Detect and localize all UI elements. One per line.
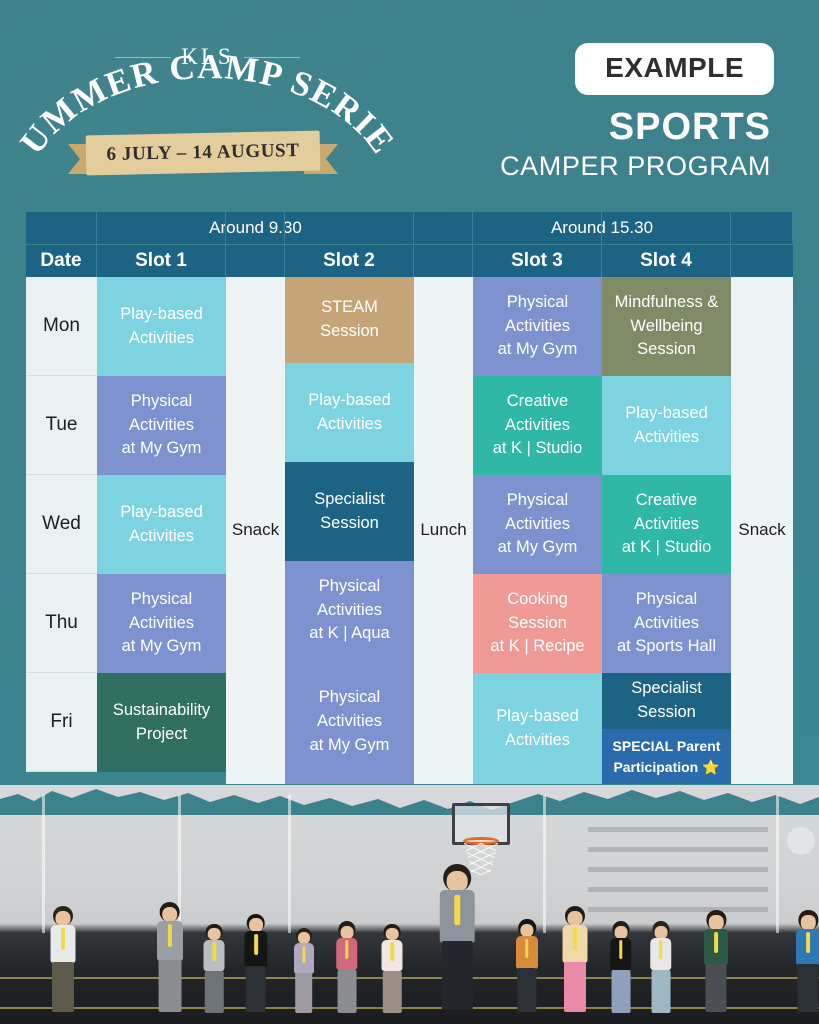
- wall-bars-icon: [588, 867, 768, 872]
- table-body: MonTueWedThuFriSnackLunchSnackPlay-based…: [26, 277, 793, 784]
- cell-line: Cooking: [507, 588, 568, 612]
- cell-line: at K | Recipe: [490, 635, 584, 659]
- cell-line: at My Gym: [498, 536, 578, 560]
- activity-cell-slot3-thu: CookingSessionat K | Recipe: [473, 574, 602, 673]
- table-column-header-row: DateSlot 1Slot 2Slot 3Slot 4: [26, 245, 793, 277]
- ribbon-body: 6 JULY – 14 AUGUST: [86, 131, 321, 176]
- floor-marking: [0, 1007, 819, 1009]
- child-figure: [606, 921, 635, 1016]
- cell-line: Activities: [129, 414, 194, 438]
- example-badge-label: EXAMPLE: [605, 52, 744, 83]
- cell-line: at My Gym: [310, 734, 390, 758]
- cell-line: Fri: [50, 708, 72, 736]
- cell-line: Physical: [131, 390, 192, 414]
- column-header-snack: [226, 245, 285, 277]
- cell-line: at K | Studio: [622, 536, 712, 560]
- cell-line: Activities: [317, 710, 382, 734]
- cell-line: at Sports Hall: [617, 635, 716, 659]
- child-figure: [200, 924, 229, 1016]
- wall-bars-icon: [588, 827, 768, 832]
- child-figure: [46, 906, 80, 1016]
- day-cell-mon: Mon: [26, 277, 97, 376]
- cell-line: at K | Studio: [493, 437, 583, 461]
- figure-lanyard: [213, 942, 216, 960]
- break-cell-snack-1: Snack: [226, 277, 285, 784]
- figure-lanyard: [806, 932, 810, 953]
- cell-line: Thu: [45, 609, 78, 637]
- figure-face: [298, 932, 310, 944]
- coach-figure: [434, 864, 481, 1016]
- column-header-slot-1: Slot 1: [97, 245, 226, 277]
- figure-legs: [798, 964, 819, 1012]
- camp-dates: 6 JULY – 14 AUGUST: [106, 140, 300, 166]
- activity-cell-slot2-thu: PhysicalActivitiesat K | Aqua: [285, 561, 414, 660]
- column-header-snack: [731, 245, 793, 277]
- header-divider: [97, 212, 226, 244]
- child-figure: [558, 906, 592, 1016]
- figure-legs: [611, 970, 630, 1013]
- cell-line: Session: [637, 701, 696, 725]
- activity-cell-slot2-fri: PhysicalActivitiesat My Gym: [285, 660, 414, 784]
- figure-lanyard: [345, 940, 348, 959]
- figure-face: [520, 924, 533, 937]
- cell-line: Sustainability: [113, 699, 210, 723]
- cell-line: Activities: [505, 729, 570, 753]
- wall-seam: [543, 795, 546, 935]
- cell-line: at K | Aqua: [309, 622, 389, 646]
- child-figure: [792, 910, 819, 1016]
- activity-cell-slot1-fri: SustainabilityProject: [97, 673, 226, 772]
- cell-line: Wellbeing: [630, 315, 702, 339]
- figure-legs: [383, 971, 401, 1013]
- figure-face: [614, 926, 627, 939]
- activity-cell-slot3-tue: CreativeActivitiesat K | Studio: [473, 376, 602, 475]
- header-divider: [26, 212, 97, 244]
- table-time-header-row: Around 9.30Around 15.30: [26, 212, 793, 244]
- activity-cell-slot3-mon: PhysicalActivitiesat My Gym: [473, 277, 602, 376]
- column-header-date: Date: [26, 245, 97, 277]
- cell-line: STEAM: [321, 296, 378, 320]
- cell-line: Project: [136, 723, 187, 747]
- break-cell-lunch: Lunch: [414, 277, 473, 784]
- cell-line: Tue: [45, 411, 77, 439]
- program-subtitle: CAMPER PROGRAM: [311, 151, 771, 182]
- figure-lanyard: [302, 946, 305, 964]
- cell-line: Mindfulness &: [615, 291, 719, 315]
- cell-line: Session: [320, 512, 379, 536]
- cell-line: Play-based: [496, 705, 579, 729]
- program-title-block: SPORTS CAMPER PROGRAM: [311, 108, 771, 182]
- cell-line: Physical: [131, 588, 192, 612]
- dates-ribbon: 6 JULY – 14 AUGUST: [68, 133, 338, 175]
- activity-cell-slot4-thu: PhysicalActivitiesat Sports Hall: [602, 574, 731, 673]
- figure-face: [56, 911, 71, 926]
- wall-seam: [42, 795, 45, 935]
- child-figure: [646, 921, 675, 1016]
- schedule-table: Around 9.30Around 15.30 DateSlot 1Slot 2…: [26, 212, 793, 784]
- torn-paper-edge-icon: [0, 785, 819, 815]
- figure-lanyard: [168, 924, 172, 947]
- corner-watermark: [787, 827, 815, 855]
- figure-legs: [442, 941, 472, 1010]
- figure-face: [568, 911, 583, 926]
- wall-bars-icon: [588, 907, 768, 912]
- figure-face: [208, 928, 221, 941]
- figure-legs: [158, 960, 181, 1012]
- cell-line: Activities: [317, 413, 382, 437]
- banner-line: Participation ⭐: [613, 757, 719, 778]
- figure-legs: [564, 962, 586, 1012]
- activity-cell-slot4-mon: Mindfulness &WellbeingSession: [602, 277, 731, 376]
- cell-line: Activities: [129, 525, 194, 549]
- cell-line: at My Gym: [122, 635, 202, 659]
- figure-legs: [706, 964, 727, 1012]
- figure-legs: [246, 966, 266, 1013]
- wall-bars-icon: [588, 847, 768, 852]
- cell-line: Snack: [232, 518, 279, 543]
- activity-cell-slot1-wed: Play-basedActivities: [97, 475, 226, 574]
- figure-face: [162, 907, 178, 923]
- figure-face: [447, 871, 468, 892]
- wall-bars-icon: [588, 887, 768, 892]
- figure-legs: [337, 970, 356, 1013]
- cell-line: Physical: [507, 291, 568, 315]
- figure-face: [340, 926, 353, 939]
- activity-cell-slot3-fri: Play-basedActivities: [473, 673, 602, 784]
- activity-cell-slot1-thu: PhysicalActivitiesat My Gym: [97, 574, 226, 673]
- cell-line: at My Gym: [122, 437, 202, 461]
- header-divider: [602, 212, 731, 244]
- figure-lanyard: [391, 942, 394, 960]
- activity-cell-slot4-fri: SpecialistSession: [602, 673, 731, 729]
- cell-line: Lunch: [420, 518, 466, 543]
- figure-lanyard: [659, 940, 662, 959]
- child-figure: [700, 910, 733, 1016]
- column-header-slot-4: Slot 4: [602, 245, 731, 277]
- gym-floor: [0, 933, 819, 1024]
- cell-line: Snack: [738, 518, 785, 543]
- cell-line: Activities: [129, 327, 194, 351]
- floor-marking: [0, 977, 819, 979]
- header-divider: [414, 212, 473, 244]
- figure-face: [386, 928, 399, 941]
- program-name: SPORTS: [311, 108, 771, 147]
- cell-line: Activities: [634, 612, 699, 636]
- activity-cell-slot1-mon: Play-basedActivities: [97, 277, 226, 376]
- day-cell-fri: Fri: [26, 673, 97, 772]
- activity-cell-slot2-wed: SpecialistSession: [285, 462, 414, 561]
- figure-legs: [52, 962, 74, 1012]
- cell-line: Session: [320, 320, 379, 344]
- page-header: KLS SUMMER CAMP SERIES 6 JULY – 14 AUGUS…: [0, 0, 819, 205]
- cell-line: Physical: [319, 575, 380, 599]
- banner-line: SPECIAL Parent: [613, 736, 721, 757]
- cell-line: Physical: [319, 686, 380, 710]
- activity-cell-slot4-tue: Play-basedActivities: [602, 376, 731, 475]
- figure-legs: [295, 973, 313, 1013]
- header-divider: [731, 212, 793, 244]
- figure-lanyard: [61, 928, 65, 950]
- figure-face: [654, 926, 667, 939]
- day-cell-tue: Tue: [26, 376, 97, 475]
- column-header-slot-3: Slot 3: [473, 245, 602, 277]
- cell-line: Creative: [507, 390, 568, 414]
- cell-line: Play-based: [120, 303, 203, 327]
- figure-legs: [205, 971, 223, 1013]
- figure-lanyard: [714, 932, 718, 953]
- example-badge: EXAMPLE: [575, 43, 774, 95]
- cell-line: Play-based: [625, 402, 708, 426]
- cell-line: at My Gym: [498, 338, 578, 362]
- child-figure: [240, 914, 272, 1016]
- cell-line: Activities: [317, 599, 382, 623]
- wall-seam: [288, 795, 291, 935]
- child-figure: [332, 921, 361, 1016]
- break-cell-snack-2: Snack: [731, 277, 793, 784]
- cell-line: Activities: [505, 315, 570, 339]
- child-figure: [378, 924, 407, 1016]
- figure-lanyard: [525, 939, 529, 958]
- cell-line: Play-based: [120, 501, 203, 525]
- cell-line: Activities: [129, 612, 194, 636]
- cell-line: Mon: [43, 312, 80, 340]
- child-figure: [512, 919, 542, 1016]
- child-figure: [290, 928, 317, 1016]
- child-figure: [152, 902, 187, 1016]
- figure-lanyard: [254, 934, 258, 954]
- cell-line: Session: [508, 612, 567, 636]
- figure-lanyard: [455, 895, 461, 925]
- cell-line: Wed: [42, 510, 81, 538]
- cell-line: Activities: [505, 414, 570, 438]
- header-divider: [226, 212, 285, 244]
- cell-line: Specialist: [314, 488, 385, 512]
- cell-line: Activities: [634, 513, 699, 537]
- cell-line: Activities: [634, 426, 699, 450]
- cell-line: Activities: [505, 513, 570, 537]
- day-cell-wed: Wed: [26, 475, 97, 574]
- special-parent-participation-banner: SPECIAL ParentParticipation ⭐: [602, 729, 731, 784]
- figure-lanyard: [619, 940, 622, 959]
- day-cell-thu: Thu: [26, 574, 97, 673]
- activity-cell-slot2-tue: Play-basedActivities: [285, 363, 414, 462]
- activity-cell-slot1-tue: PhysicalActivitiesat My Gym: [97, 376, 226, 475]
- figure-legs: [517, 968, 536, 1012]
- cell-line: Play-based: [308, 389, 391, 413]
- cell-line: Physical: [636, 588, 697, 612]
- cell-line: Creative: [636, 489, 697, 513]
- figure-face: [249, 918, 263, 932]
- activity-cell-slot2-mon: STEAMSession: [285, 277, 414, 363]
- activity-cell-slot4-wed: CreativeActivitiesat K | Studio: [602, 475, 731, 574]
- column-header-lunch: [414, 245, 473, 277]
- cell-line: Session: [637, 338, 696, 362]
- column-header-slot-2: Slot 2: [285, 245, 414, 277]
- header-divider: [473, 212, 602, 244]
- figure-lanyard: [573, 928, 577, 950]
- cell-line: Specialist: [631, 677, 702, 701]
- header-divider: [285, 212, 414, 244]
- camp-photo: [0, 785, 819, 1024]
- wall-seam: [776, 795, 779, 935]
- activity-cell-slot3-wed: PhysicalActivitiesat My Gym: [473, 475, 602, 574]
- cell-line: Physical: [507, 489, 568, 513]
- figure-legs: [651, 970, 670, 1013]
